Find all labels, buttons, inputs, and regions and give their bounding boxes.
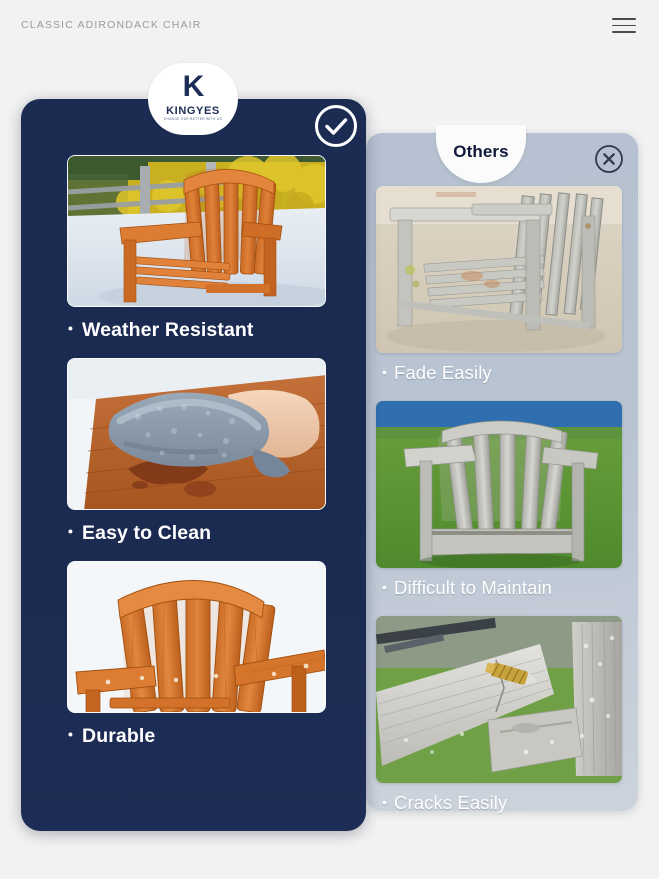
drawback-label: •Difficult to Maintain [382, 577, 628, 599]
feature-label: •Weather Resistant [68, 319, 329, 342]
comparison-stage: Others [0, 0, 659, 879]
others-title: Others [453, 142, 508, 162]
drawback-image-maintain [376, 401, 622, 568]
feature-label: •Easy to Clean [68, 522, 329, 545]
drawback-text: Fade Easily [394, 362, 492, 383]
bullet-icon: • [68, 320, 73, 336]
drawback-image-fade [376, 186, 622, 353]
feature-text: Easy to Clean [82, 522, 211, 544]
bullet-icon: • [68, 726, 73, 742]
bullet-icon: • [382, 794, 387, 810]
list-item[interactable]: •Difficult to Maintain [376, 401, 628, 599]
bullet-icon: • [68, 523, 73, 539]
drawback-image-cracks [376, 616, 622, 783]
brand-logo-badge: K KINGYES CHANGE OUR BETTER WITH US [148, 63, 238, 135]
feature-label: •Durable [68, 725, 329, 748]
drawback-text: Difficult to Maintain [394, 577, 552, 598]
feature-image-weather [67, 155, 326, 307]
list-item[interactable]: •Durable [67, 561, 329, 748]
list-item[interactable]: •Cracks Easily [376, 616, 628, 814]
check-circle-icon[interactable] [314, 104, 358, 148]
bullet-icon: • [382, 364, 387, 380]
list-item[interactable]: •Easy to Clean [67, 358, 329, 545]
drawback-text: Cracks Easily [394, 792, 507, 813]
feature-image-durable [67, 561, 326, 713]
list-item[interactable]: •Fade Easily [376, 186, 628, 384]
bullet-icon: • [382, 579, 387, 595]
drawback-label: •Fade Easily [382, 362, 628, 384]
logo-tagline: CHANGE OUR BETTER WITH US [148, 117, 238, 121]
logo-name: KINGYES [148, 105, 238, 117]
feature-image-clean [67, 358, 326, 510]
feature-text: Durable [82, 725, 155, 747]
list-item[interactable]: •Weather Resistant [67, 155, 329, 342]
feature-text: Weather Resistant [82, 319, 253, 341]
brand-feature-list: •Weather Resistant [67, 155, 329, 764]
others-drawback-list: •Fade Easily [376, 186, 628, 831]
logo-monogram: K [148, 72, 238, 102]
drawback-label: •Cracks Easily [382, 792, 628, 814]
close-circle-icon[interactable] [594, 144, 624, 174]
